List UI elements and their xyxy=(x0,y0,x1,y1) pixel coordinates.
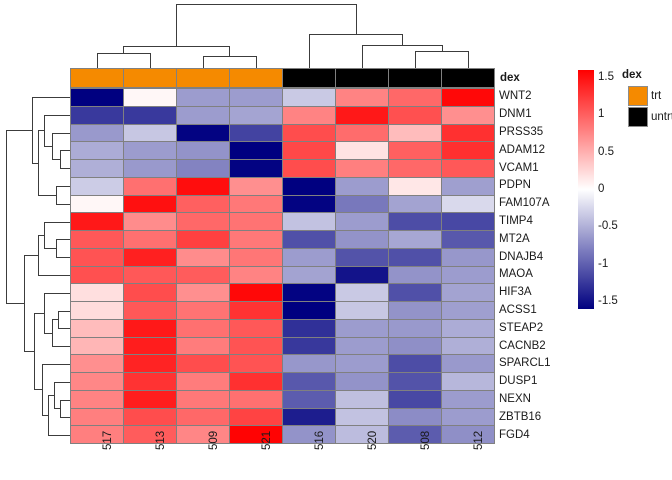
dex-legend-swatch-untrt[interactable] xyxy=(628,107,648,127)
dex-legend-label: trt xyxy=(651,91,661,103)
dex-legend-label: untrt xyxy=(651,112,672,124)
dex-legend-swatch-trt[interactable] xyxy=(628,86,648,106)
heatmap-figure: dex WNT2DNM1PRSS35ADAM12VCAM1PDPNFAM107A… xyxy=(0,0,672,480)
dex-legend: trtuntrt xyxy=(0,0,672,480)
